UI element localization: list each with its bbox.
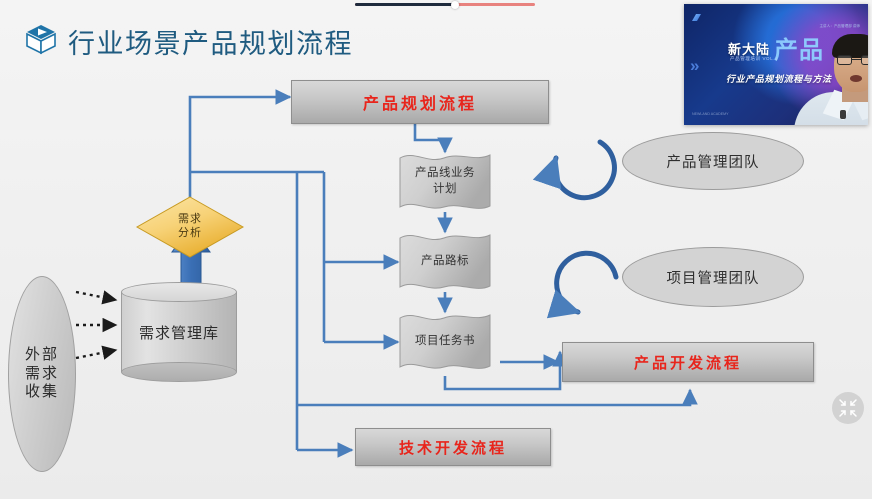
node-product-management-team[interactable]: 产品管理团队	[622, 132, 804, 190]
node-label: 产品规划流程	[363, 90, 477, 114]
brand-mark-icon	[692, 14, 701, 21]
collapse-fullscreen-button[interactable]	[832, 392, 864, 424]
lapel-microphone-icon	[840, 110, 846, 119]
node-label: 产品管理团队	[667, 151, 760, 172]
collapse-fullscreen-icon	[839, 399, 857, 417]
node-product-roadmap[interactable]: 产品路标	[398, 230, 492, 294]
node-label-line: 需求	[178, 213, 202, 227]
node-demand-analysis[interactable]: 需求 分析	[136, 196, 244, 258]
node-product-development-process[interactable]: 产品开发流程	[562, 342, 814, 382]
node-product-line-plan[interactable]: 产品线业务 计划	[398, 150, 492, 214]
slide-footer-text: NEWLAND ACADEMY	[692, 111, 729, 117]
node-label: 产品开发流程	[634, 352, 742, 373]
node-label: 技术开发流程	[399, 437, 507, 458]
glasses-icon	[837, 55, 868, 65]
node-label-line: 计划	[433, 182, 457, 198]
slide-canvas: 行业场景产品规划流程	[0, 0, 872, 499]
brand-logo-icon	[692, 14, 701, 21]
node-project-charter[interactable]: 项目任务书	[398, 310, 492, 374]
node-demand-repository[interactable]: 需求管理库	[121, 282, 237, 382]
presenter-figure	[742, 18, 862, 125]
node-label: 项目任务书	[415, 334, 475, 350]
presenter-mouth	[850, 75, 862, 82]
node-label-line: 外部	[25, 346, 59, 365]
node-label-line: 需求	[25, 365, 59, 384]
node-label-line: 分析	[178, 227, 202, 241]
node-label: 项目管理团队	[667, 267, 760, 288]
node-product-planning-process[interactable]: 产品规划流程	[291, 80, 549, 124]
node-label-line: 产品线业务	[415, 166, 475, 182]
node-label-line: 收集	[25, 383, 59, 402]
presenter-video[interactable]: » 产品 新大陆 产品管理培训 VOL.1 行业产品规划流程与方法 主讲人：产品…	[684, 4, 868, 125]
node-label: 产品路标	[421, 254, 469, 270]
chevron-double-right-icon: »	[690, 56, 696, 76]
node-project-management-team[interactable]: 项目管理团队	[622, 247, 804, 307]
node-label: 需求管理库	[121, 282, 237, 382]
node-technical-development-process[interactable]: 技术开发流程	[355, 428, 551, 466]
node-external-demand[interactable]: 外部 需求 收集	[8, 276, 76, 472]
